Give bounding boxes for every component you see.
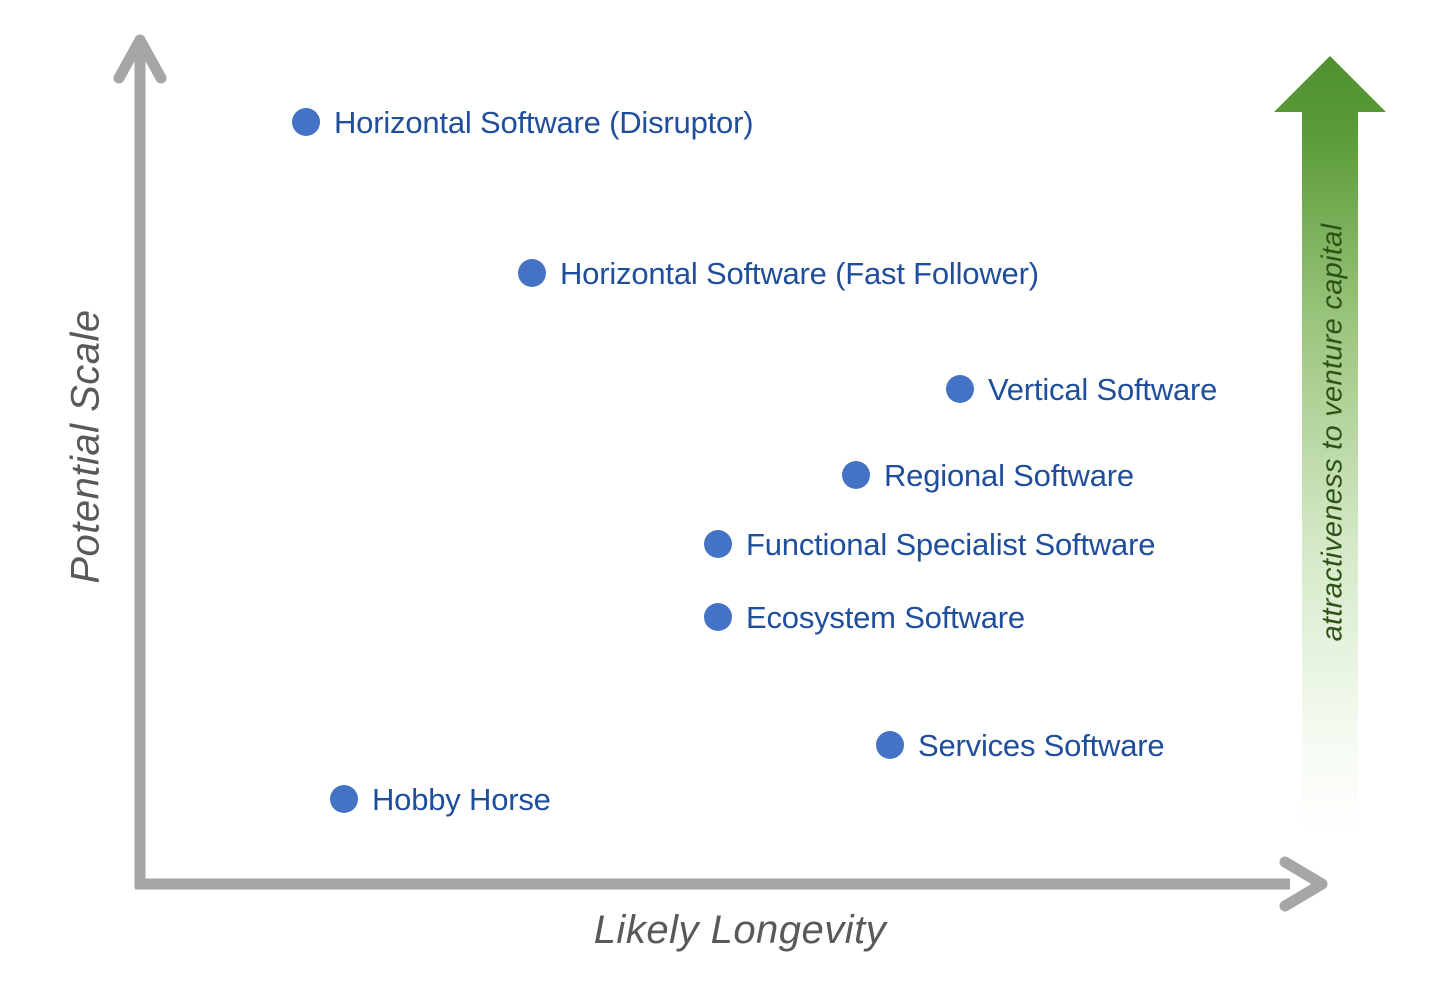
axes-group bbox=[0, 0, 1456, 992]
data-point[interactable]: Hobby Horse bbox=[330, 785, 551, 813]
data-point-marker bbox=[704, 603, 732, 631]
data-point-marker bbox=[518, 259, 546, 287]
data-point[interactable]: Horizontal Software (Fast Follower) bbox=[518, 259, 1039, 287]
data-point[interactable]: Ecosystem Software bbox=[704, 603, 1025, 631]
data-point-marker bbox=[704, 530, 732, 558]
attractiveness-arrow-label: attractiveness to venture capital bbox=[1317, 113, 1350, 753]
data-point-label: Horizontal Software (Fast Follower) bbox=[560, 258, 1039, 289]
data-point[interactable]: Functional Specialist Software bbox=[704, 530, 1155, 558]
data-point-label: Functional Specialist Software bbox=[746, 529, 1155, 560]
y-axis-arrowhead bbox=[119, 40, 161, 78]
data-point-marker bbox=[842, 461, 870, 489]
data-point[interactable]: Vertical Software bbox=[946, 375, 1217, 403]
data-point-label: Horizontal Software (Disruptor) bbox=[334, 107, 753, 138]
data-point[interactable]: Services Software bbox=[876, 731, 1164, 759]
data-point-label: Hobby Horse bbox=[372, 784, 551, 815]
data-point[interactable]: Horizontal Software (Disruptor) bbox=[292, 108, 753, 136]
data-point-marker bbox=[946, 375, 974, 403]
data-point-marker bbox=[876, 731, 904, 759]
data-point-marker bbox=[292, 108, 320, 136]
data-point-label: Ecosystem Software bbox=[746, 602, 1025, 633]
y-axis-title: Potential Scale bbox=[64, 297, 109, 597]
data-point-label: Vertical Software bbox=[988, 374, 1217, 405]
data-point[interactable]: Regional Software bbox=[842, 461, 1134, 489]
x-axis-arrowhead bbox=[1285, 862, 1322, 906]
x-axis-title: Likely Longevity bbox=[440, 908, 1040, 953]
chart-canvas: Potential Scale Likely Longevity Horizon… bbox=[0, 0, 1456, 992]
data-point-marker bbox=[330, 785, 358, 813]
data-point-label: Regional Software bbox=[884, 460, 1134, 491]
attractiveness-arrow: attractiveness to venture capital bbox=[1268, 48, 1392, 834]
data-point-label: Services Software bbox=[918, 730, 1164, 761]
